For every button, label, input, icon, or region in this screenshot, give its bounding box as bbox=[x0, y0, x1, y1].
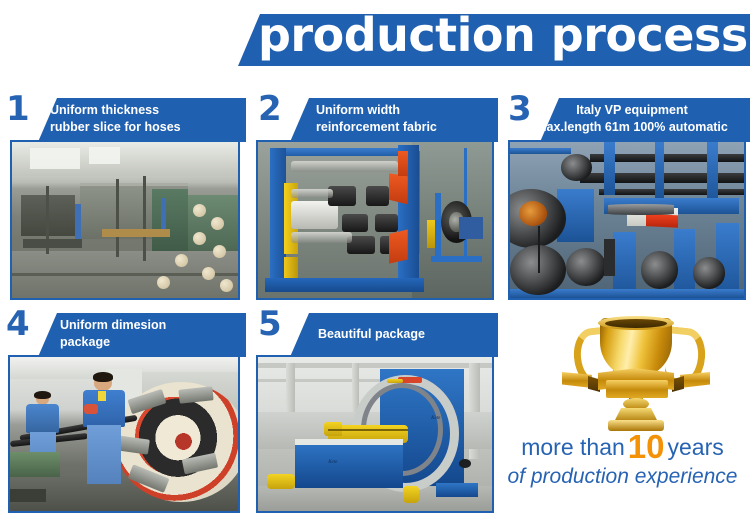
panel-5-photo-scene: Kete Kete bbox=[258, 357, 492, 511]
panel-4-label: Uniform dimesion package bbox=[38, 313, 246, 357]
panel-4-label-text: Uniform dimesion package bbox=[60, 317, 242, 351]
panel-5-number: 5 bbox=[258, 307, 282, 341]
panel-1-photo bbox=[10, 140, 240, 300]
header-banner: production process bbox=[238, 14, 750, 66]
panel-5: 5 Beautiful package bbox=[252, 311, 498, 517]
experience-prefix: more than bbox=[521, 434, 625, 460]
panel-5-label-text: Beautiful package bbox=[318, 326, 494, 343]
experience-years-number: 10 bbox=[625, 428, 668, 465]
panel-5-label: Beautiful package bbox=[290, 313, 498, 357]
machine-brand-mark-2: Kete bbox=[431, 416, 440, 421]
experience-line-2: of production experience bbox=[495, 462, 750, 492]
panel-3-photo-scene bbox=[510, 142, 744, 298]
panel-1-photo-scene bbox=[12, 142, 238, 298]
panel-4-photo-scene bbox=[10, 357, 238, 511]
panel-1-label: Uniform thickness rubber slice for hoses bbox=[38, 98, 246, 142]
panel-4-number: 4 bbox=[6, 307, 30, 341]
panel-3: 3 Italy VP equipment Max.length 61m 100%… bbox=[502, 96, 750, 304]
panel-1-number: 1 bbox=[6, 92, 30, 126]
panel-2-label: Uniform width reinforcement fabric bbox=[290, 98, 498, 142]
worker-front bbox=[78, 372, 133, 495]
trophy-rim-inner bbox=[605, 319, 667, 328]
panel-2-number: 2 bbox=[258, 92, 282, 126]
panel-4: 4 Uniform dimesion package bbox=[0, 311, 246, 517]
page-title: production process bbox=[258, 14, 748, 61]
trophy-ribbon bbox=[562, 366, 710, 400]
machine-brand-mark-1: Kete bbox=[328, 460, 337, 465]
experience-callout: more than10years of production experienc… bbox=[495, 432, 750, 492]
panel-2-label-text: Uniform width reinforcement fabric bbox=[316, 102, 494, 136]
panel-4-photo bbox=[8, 355, 240, 513]
panel-1: 1 Uniform thickness rubber slice for hos… bbox=[0, 96, 246, 304]
panel-2: 2 Uniform width reinforcement fabric bbox=[252, 96, 498, 304]
panel-5-photo: Kete Kete bbox=[256, 355, 494, 513]
panel-3-photo bbox=[508, 140, 746, 300]
gold-trophy-icon bbox=[556, 312, 716, 442]
experience-suffix: years bbox=[668, 434, 724, 460]
panel-2-photo-scene bbox=[258, 142, 492, 298]
panel-3-label-text: Italy VP equipment Max.length 61m 100% a… bbox=[514, 102, 750, 136]
panel-1-label-text: Uniform thickness rubber slice for hoses bbox=[50, 102, 242, 136]
panel-2-photo bbox=[256, 140, 494, 300]
production-process-infographic: production process 1 Uniform thickness r… bbox=[0, 0, 750, 525]
experience-line-1: more than10years bbox=[495, 432, 750, 462]
